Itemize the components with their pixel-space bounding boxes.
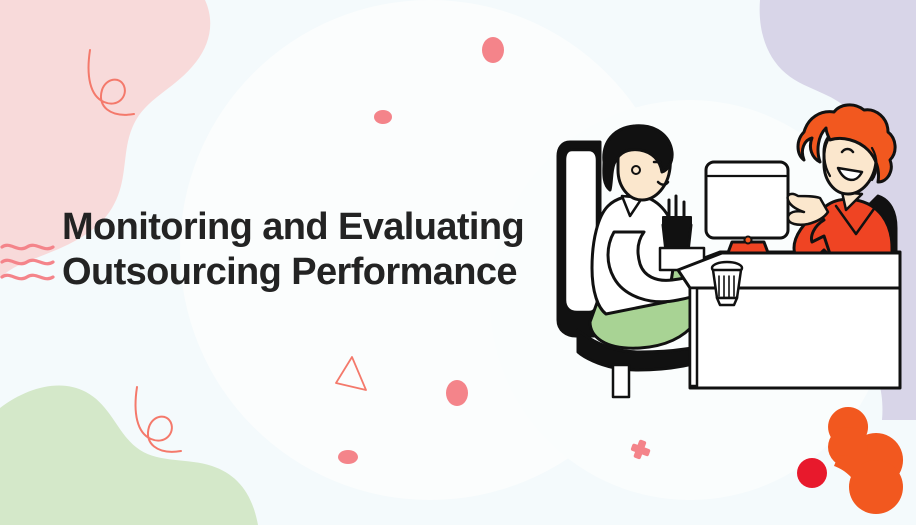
banner-canvas: Monitoring and Evaluating Outsourcing Pe…	[0, 0, 916, 525]
desk-top-surface	[678, 253, 900, 288]
dot-decoration-top	[482, 37, 504, 63]
desk-leg	[690, 288, 697, 386]
dot-decoration-bottom	[338, 450, 358, 464]
desk-items-front	[712, 262, 742, 305]
dot-decoration-mid	[374, 110, 392, 124]
banner-artwork	[0, 0, 916, 525]
small-red-circle-decoration	[797, 458, 827, 488]
dot-decoration-lower-right	[446, 380, 468, 406]
